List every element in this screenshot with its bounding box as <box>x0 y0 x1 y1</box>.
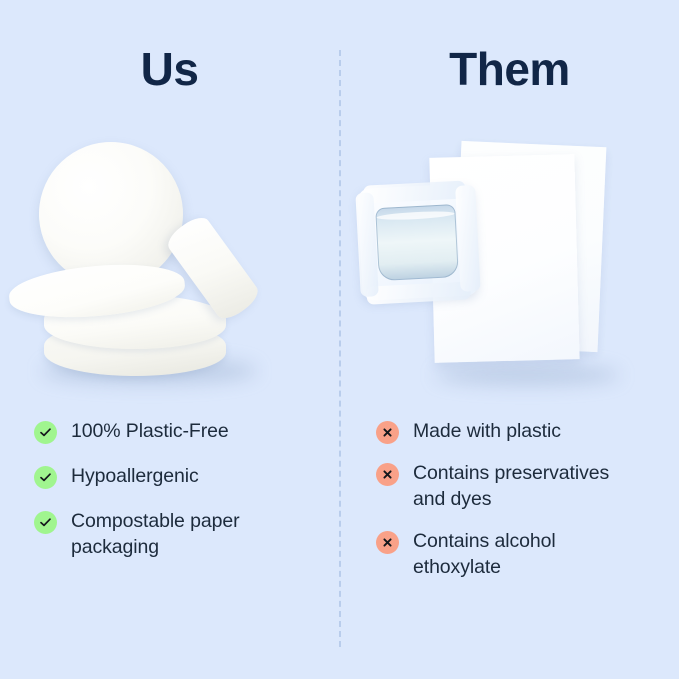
list-item: Hypoallergenic <box>34 463 324 489</box>
list-item: Contains alcohol ethoxylate <box>376 528 668 580</box>
list-item-label: Made with plastic <box>413 418 561 444</box>
list-item-label: Contains alcohol ethoxylate <box>413 528 556 580</box>
check-icon <box>34 511 57 534</box>
column-heading-us: Us <box>0 46 339 92</box>
list-item: Contains preservatives and dyes <box>376 460 668 512</box>
check-icon <box>34 421 57 444</box>
cross-icon <box>376 421 399 444</box>
drawbacks-list-them: Made with plastic Contains preservatives… <box>376 418 668 596</box>
list-item-label: Hypoallergenic <box>71 463 199 489</box>
cross-icon <box>376 463 399 486</box>
check-icon <box>34 466 57 489</box>
product-image-sachet-and-sheets <box>340 130 679 395</box>
list-item: 100% Plastic-Free <box>34 418 324 444</box>
list-item: Made with plastic <box>376 418 668 444</box>
sheets-shadow <box>435 365 620 385</box>
benefits-list-us: 100% Plastic-Free Hypoallergenic Compost… <box>34 418 324 579</box>
comparison-column-them: Them Made with <box>340 0 679 679</box>
plastic-sachet <box>357 183 479 301</box>
product-image-tablets <box>0 130 339 395</box>
list-item-label: Contains preservatives and dyes <box>413 460 609 512</box>
list-item-label: Compostable paper packaging <box>71 508 240 560</box>
column-heading-them: Them <box>340 46 679 92</box>
list-item: Compostable paper packaging <box>34 508 324 560</box>
cross-icon <box>376 531 399 554</box>
list-item-label: 100% Plastic-Free <box>71 418 229 444</box>
comparison-infographic: Us 100% Plastic-Free <box>0 0 679 679</box>
comparison-column-us: Us 100% Plastic-Free <box>0 0 339 679</box>
